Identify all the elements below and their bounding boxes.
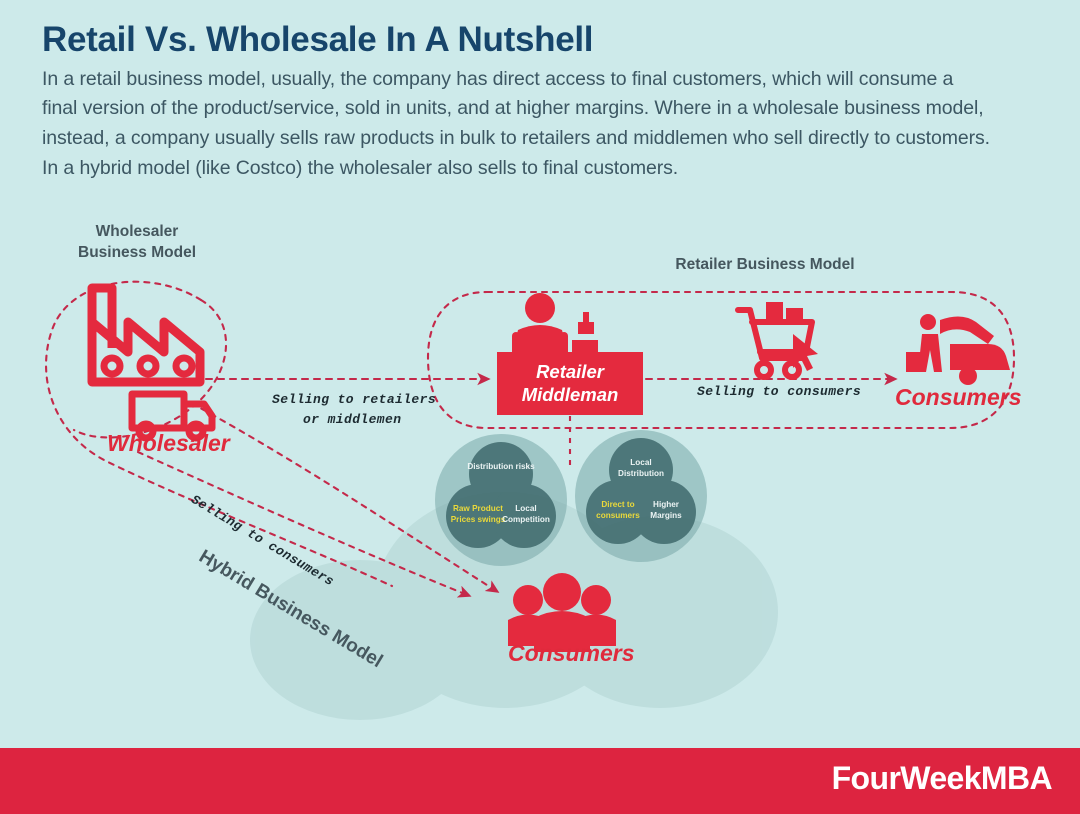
venn-left-right-label: Local Competition: [496, 503, 556, 525]
footer-bar: FourWeekMBA: [0, 748, 1080, 814]
consumers-right-label: Consumers: [895, 384, 1022, 411]
cart-items-icon: [766, 302, 803, 320]
factory-icon: [92, 288, 200, 382]
wholesaler-label: Wholesaler: [107, 430, 230, 457]
venn-right-right-label: Higher Margins: [638, 499, 694, 521]
retailer-model-caption: Retailer Business Model: [660, 255, 870, 276]
factory-windows: [104, 358, 192, 374]
venn-left-top-label: Distribution risks: [466, 461, 536, 472]
shopkeeper-icon: [512, 293, 568, 356]
retailer-node-line1: Retailer: [536, 361, 604, 383]
venn-right-top-label: Local Distribution: [608, 457, 674, 479]
retailer-node-line2: Middleman: [522, 384, 619, 406]
flow-label-to-consumers: Selling to consumers: [697, 384, 861, 399]
fourweekmba-logo: FourWeekMBA: [832, 760, 1052, 797]
cart-wheels-icon: [757, 363, 799, 377]
consumer-loading-car-icon: [906, 314, 1010, 385]
retailer-middleman-node: Retailer Middleman: [497, 352, 643, 415]
consumers-bottom-label: Consumers: [508, 640, 635, 667]
infographic-canvas: Retail Vs. Wholesale In A Nutshell In a …: [0, 0, 1080, 814]
cash-register-icon: [572, 312, 598, 354]
flow-label-to-retailers: Selling to retailers: [272, 392, 436, 407]
flow-label-or-middlemen: or middlemen: [303, 412, 401, 427]
wholesaler-model-caption: Wholesaler Business Model: [78, 222, 196, 264]
